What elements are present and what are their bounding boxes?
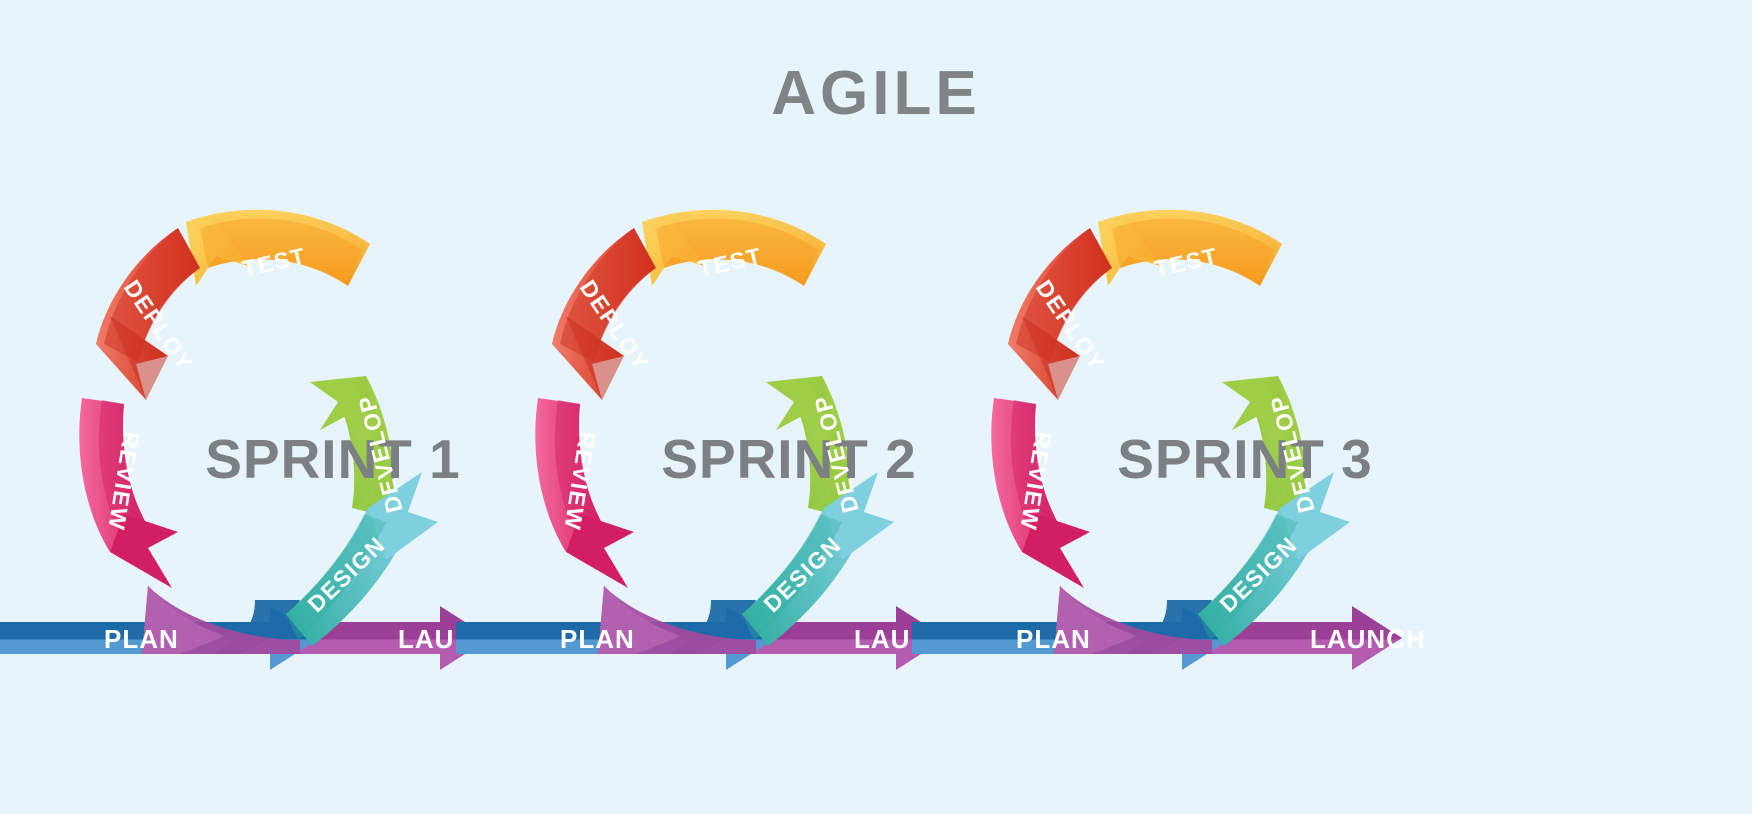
sprint-group-3[interactable]: SPRINT 3 TEST DEPLOY REVIEW DESIGN DEVEL… (912, 210, 1426, 670)
sprint-label-2: SPRINT 2 (661, 428, 917, 490)
launch-label-3: LAUNCH (1310, 624, 1426, 654)
agile-diagram-canvas: AGILE (0, 0, 1752, 814)
sprint-label-1: SPRINT 1 (205, 428, 461, 490)
sprint-group-1[interactable]: SPRINT 1 TEST DEPLOY REVIEW DESIGN DEVEL… (0, 210, 514, 670)
plan-label-1: PLAN (104, 624, 179, 654)
agile-cycle-svg: SPRINT 1 TEST DEPLOY REVIEW DESIGN DEVEL… (0, 0, 1752, 814)
sprint-label-3: SPRINT 3 (1117, 428, 1373, 490)
sprint-group-2[interactable]: SPRINT 2 TEST DEPLOY REVIEW DESIGN DEVEL… (456, 210, 970, 670)
plan-label-2: PLAN (560, 624, 635, 654)
plan-label-3: PLAN (1016, 624, 1091, 654)
